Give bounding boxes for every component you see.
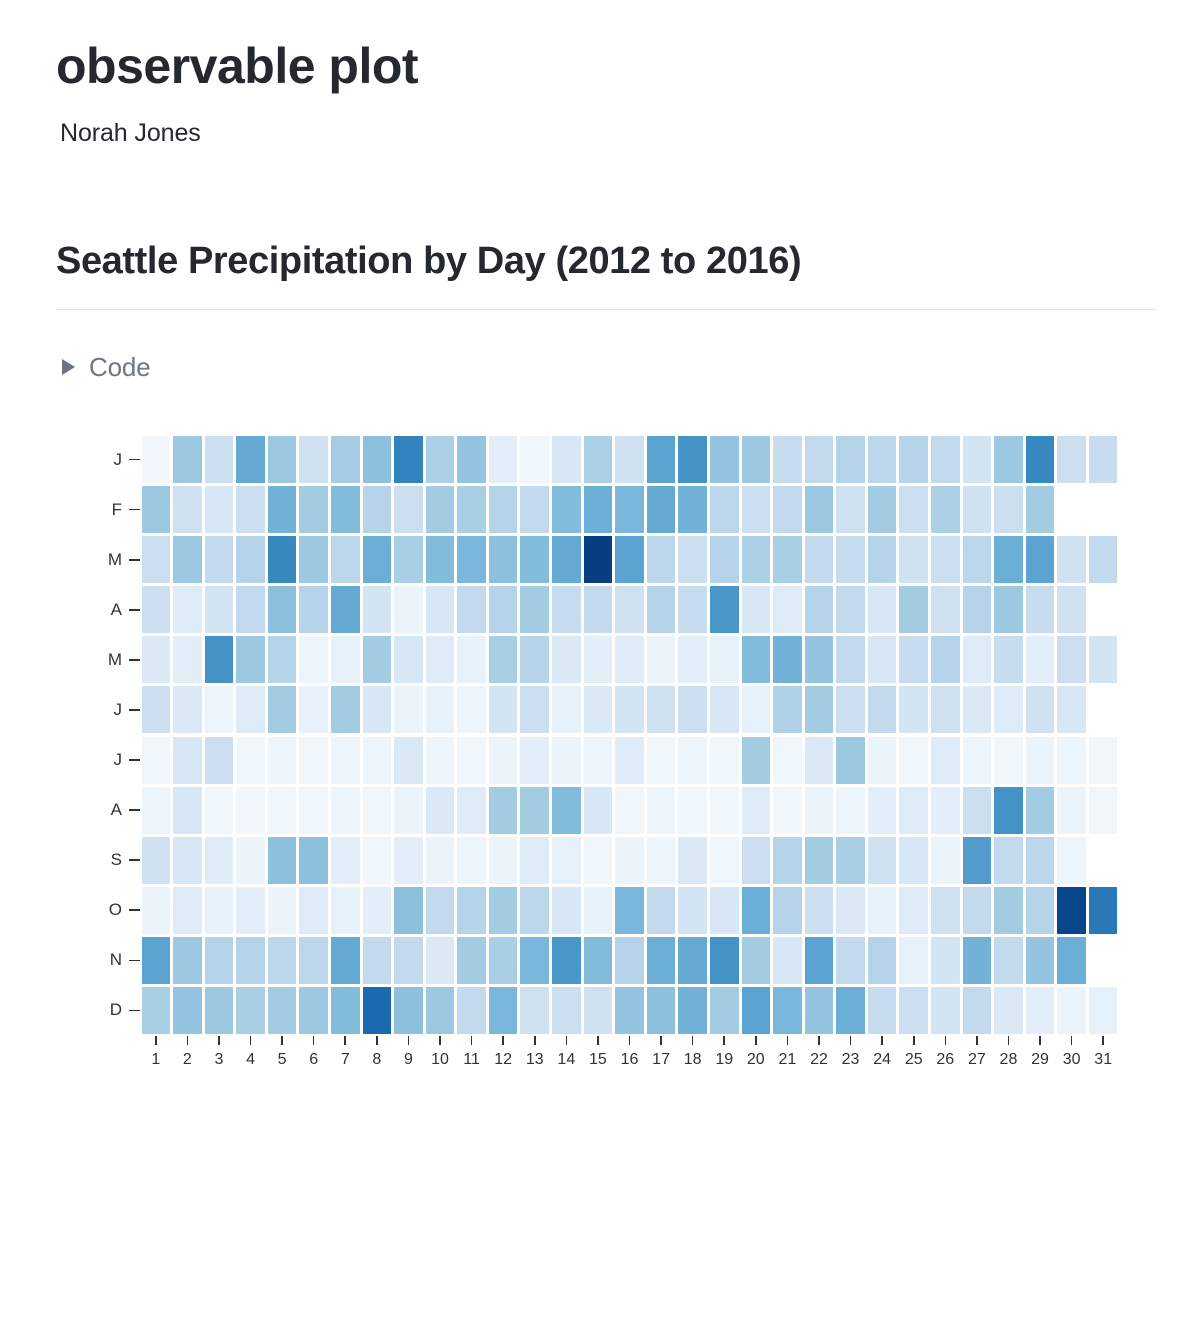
heatmap-cell[interactable]: [963, 937, 992, 984]
heatmap-cell[interactable]: [773, 987, 802, 1034]
heatmap-cell[interactable]: [142, 436, 171, 483]
heatmap-cell[interactable]: [173, 837, 202, 884]
heatmap-cell[interactable]: [773, 586, 802, 633]
heatmap-cell[interactable]: [331, 586, 360, 633]
heatmap-cell[interactable]: [773, 536, 802, 583]
heatmap-cell[interactable]: [805, 586, 834, 633]
heatmap-cell[interactable]: [742, 837, 771, 884]
heatmap-cell[interactable]: [868, 887, 897, 934]
heatmap-cell[interactable]: [489, 737, 518, 784]
heatmap-cell[interactable]: [520, 486, 549, 533]
heatmap-cell[interactable]: [1026, 436, 1055, 483]
heatmap-cell[interactable]: [1057, 737, 1086, 784]
heatmap-cell[interactable]: [1026, 837, 1055, 884]
heatmap-cell[interactable]: [520, 887, 549, 934]
heatmap-cell[interactable]: [394, 536, 423, 583]
heatmap-cell[interactable]: [331, 436, 360, 483]
heatmap-cell[interactable]: [963, 987, 992, 1034]
heatmap-cell[interactable]: [742, 737, 771, 784]
heatmap-cell[interactable]: [1026, 987, 1055, 1034]
heatmap-cell[interactable]: [710, 686, 739, 733]
heatmap-cell[interactable]: [331, 887, 360, 934]
heatmap-cell[interactable]: [899, 737, 928, 784]
heatmap-cell[interactable]: [299, 887, 328, 934]
heatmap-cell[interactable]: [363, 636, 392, 683]
heatmap-cell[interactable]: [236, 536, 265, 583]
heatmap-cell[interactable]: [173, 486, 202, 533]
heatmap-cell[interactable]: [584, 436, 613, 483]
heatmap-cell[interactable]: [268, 486, 297, 533]
heatmap-cell[interactable]: [426, 586, 455, 633]
heatmap-cell[interactable]: [268, 586, 297, 633]
heatmap-cell[interactable]: [710, 737, 739, 784]
heatmap-cell[interactable]: [299, 837, 328, 884]
heatmap-cell[interactable]: [173, 636, 202, 683]
heatmap-cell[interactable]: [299, 937, 328, 984]
heatmap-cell[interactable]: [331, 686, 360, 733]
heatmap-cell[interactable]: [963, 486, 992, 533]
heatmap-cell[interactable]: [363, 987, 392, 1034]
heatmap-cell[interactable]: [742, 787, 771, 834]
heatmap-cell[interactable]: [805, 937, 834, 984]
heatmap-cell[interactable]: [647, 536, 676, 583]
heatmap-cell[interactable]: [299, 486, 328, 533]
heatmap-cell[interactable]: [963, 887, 992, 934]
heatmap-cell[interactable]: [868, 837, 897, 884]
heatmap-cell[interactable]: [489, 536, 518, 583]
heatmap-cell[interactable]: [173, 686, 202, 733]
heatmap-cell[interactable]: [931, 486, 960, 533]
heatmap-cell[interactable]: [173, 987, 202, 1034]
heatmap-cell[interactable]: [457, 787, 486, 834]
heatmap-cell[interactable]: [268, 987, 297, 1034]
heatmap-cell[interactable]: [963, 636, 992, 683]
heatmap-cell[interactable]: [710, 837, 739, 884]
heatmap-cell[interactable]: [836, 436, 865, 483]
heatmap-cell[interactable]: [615, 436, 644, 483]
heatmap-cell[interactable]: [236, 737, 265, 784]
heatmap-cell[interactable]: [615, 636, 644, 683]
heatmap-cell[interactable]: [931, 987, 960, 1034]
heatmap-cell[interactable]: [615, 837, 644, 884]
heatmap-cell[interactable]: [773, 937, 802, 984]
heatmap-cell[interactable]: [552, 486, 581, 533]
heatmap-cell[interactable]: [678, 486, 707, 533]
heatmap-cell[interactable]: [647, 586, 676, 633]
heatmap-cell[interactable]: [489, 436, 518, 483]
heatmap-cell[interactable]: [836, 586, 865, 633]
heatmap-cell[interactable]: [394, 436, 423, 483]
heatmap-cell[interactable]: [331, 837, 360, 884]
heatmap-cell[interactable]: [868, 636, 897, 683]
heatmap-cell[interactable]: [584, 586, 613, 633]
heatmap-cell[interactable]: [331, 937, 360, 984]
heatmap-cell[interactable]: [299, 436, 328, 483]
heatmap-cell[interactable]: [647, 887, 676, 934]
heatmap-cell[interactable]: [142, 937, 171, 984]
heatmap-cell[interactable]: [899, 636, 928, 683]
heatmap-cell[interactable]: [584, 837, 613, 884]
heatmap-cell[interactable]: [710, 436, 739, 483]
heatmap-cell[interactable]: [489, 987, 518, 1034]
heatmap-cell[interactable]: [142, 536, 171, 583]
heatmap-cell[interactable]: [142, 686, 171, 733]
heatmap-cell[interactable]: [836, 486, 865, 533]
heatmap-cell[interactable]: [742, 536, 771, 583]
heatmap-cell[interactable]: [994, 987, 1023, 1034]
heatmap-cell[interactable]: [205, 486, 234, 533]
heatmap-cell[interactable]: [205, 536, 234, 583]
heatmap-cell[interactable]: [963, 737, 992, 784]
heatmap-cell[interactable]: [552, 436, 581, 483]
heatmap-cell[interactable]: [1026, 586, 1055, 633]
heatmap-cell[interactable]: [489, 937, 518, 984]
heatmap-cell[interactable]: [457, 636, 486, 683]
heatmap-cell[interactable]: [426, 787, 455, 834]
heatmap-cell[interactable]: [363, 837, 392, 884]
heatmap-cell[interactable]: [805, 987, 834, 1034]
heatmap-cell[interactable]: [1057, 636, 1086, 683]
heatmap-cell[interactable]: [1057, 837, 1086, 884]
heatmap-cell[interactable]: [426, 887, 455, 934]
heatmap-cell[interactable]: [710, 887, 739, 934]
heatmap-cell[interactable]: [868, 486, 897, 533]
heatmap-cell[interactable]: [994, 486, 1023, 533]
heatmap-cell[interactable]: [520, 586, 549, 633]
heatmap-cell[interactable]: [836, 987, 865, 1034]
heatmap-cell[interactable]: [805, 436, 834, 483]
heatmap-cell[interactable]: [205, 586, 234, 633]
heatmap-cell[interactable]: [142, 586, 171, 633]
heatmap-cell[interactable]: [773, 636, 802, 683]
heatmap-cell[interactable]: [1089, 887, 1118, 934]
heatmap-cell[interactable]: [1026, 686, 1055, 733]
heatmap-cell[interactable]: [520, 636, 549, 683]
heatmap-cell[interactable]: [678, 987, 707, 1034]
heatmap-cell[interactable]: [931, 737, 960, 784]
heatmap-cell[interactable]: [268, 536, 297, 583]
heatmap-cell[interactable]: [236, 636, 265, 683]
heatmap-cell[interactable]: [236, 686, 265, 733]
heatmap-cell[interactable]: [1026, 787, 1055, 834]
heatmap-cell[interactable]: [142, 837, 171, 884]
heatmap-cell[interactable]: [742, 486, 771, 533]
heatmap-cell[interactable]: [520, 837, 549, 884]
heatmap-cell[interactable]: [520, 987, 549, 1034]
heatmap-cell[interactable]: [1057, 686, 1086, 733]
heatmap-cell[interactable]: [363, 937, 392, 984]
heatmap-cell[interactable]: [1057, 436, 1086, 483]
heatmap-cell[interactable]: [299, 636, 328, 683]
heatmap-cell[interactable]: [994, 787, 1023, 834]
heatmap-cell[interactable]: [805, 837, 834, 884]
heatmap-cell[interactable]: [994, 636, 1023, 683]
heatmap-cell[interactable]: [552, 636, 581, 683]
heatmap-cell[interactable]: [931, 586, 960, 633]
heatmap-cell[interactable]: [899, 436, 928, 483]
heatmap-cell[interactable]: [710, 636, 739, 683]
heatmap-cell[interactable]: [647, 686, 676, 733]
heatmap-cell[interactable]: [457, 586, 486, 633]
heatmap-cell[interactable]: [426, 536, 455, 583]
heatmap-cell[interactable]: [268, 837, 297, 884]
heatmap-cell[interactable]: [489, 586, 518, 633]
heatmap-cell[interactable]: [299, 536, 328, 583]
heatmap-cell[interactable]: [142, 737, 171, 784]
heatmap-cell[interactable]: [647, 636, 676, 683]
heatmap-cell[interactable]: [678, 787, 707, 834]
heatmap-cell[interactable]: [615, 536, 644, 583]
heatmap-cell[interactable]: [615, 987, 644, 1034]
heatmap-cell[interactable]: [710, 787, 739, 834]
heatmap-cell[interactable]: [394, 787, 423, 834]
heatmap-cell[interactable]: [457, 486, 486, 533]
heatmap-cell[interactable]: [710, 486, 739, 533]
heatmap-cell[interactable]: [173, 937, 202, 984]
heatmap-cell[interactable]: [994, 837, 1023, 884]
heatmap-cell[interactable]: [994, 586, 1023, 633]
heatmap-cell[interactable]: [994, 937, 1023, 984]
heatmap-cell[interactable]: [1089, 436, 1118, 483]
heatmap-cell[interactable]: [710, 536, 739, 583]
heatmap-cell[interactable]: [268, 787, 297, 834]
heatmap-cell[interactable]: [868, 436, 897, 483]
heatmap-cell[interactable]: [552, 586, 581, 633]
heatmap-cell[interactable]: [868, 686, 897, 733]
heatmap-cell[interactable]: [331, 987, 360, 1034]
heatmap-cell[interactable]: [173, 586, 202, 633]
heatmap-cell[interactable]: [426, 686, 455, 733]
heatmap-cell[interactable]: [584, 737, 613, 784]
heatmap-cell[interactable]: [1026, 737, 1055, 784]
heatmap-cell[interactable]: [142, 887, 171, 934]
heatmap-cell[interactable]: [1057, 987, 1086, 1034]
heatmap-cell[interactable]: [647, 837, 676, 884]
heatmap-cell[interactable]: [552, 837, 581, 884]
heatmap-cell[interactable]: [742, 987, 771, 1034]
heatmap-cell[interactable]: [805, 536, 834, 583]
heatmap-cell[interactable]: [1089, 536, 1118, 583]
heatmap-cell[interactable]: [994, 686, 1023, 733]
heatmap-cell[interactable]: [142, 636, 171, 683]
heatmap-cell[interactable]: [773, 486, 802, 533]
heatmap-cell[interactable]: [394, 737, 423, 784]
heatmap-cell[interactable]: [173, 737, 202, 784]
heatmap-cell[interactable]: [836, 887, 865, 934]
heatmap-cell[interactable]: [899, 586, 928, 633]
heatmap-cell[interactable]: [963, 586, 992, 633]
heatmap-cell[interactable]: [1057, 887, 1086, 934]
heatmap-cell[interactable]: [678, 536, 707, 583]
heatmap-cell[interactable]: [457, 737, 486, 784]
heatmap-cell[interactable]: [647, 787, 676, 834]
heatmap-cell[interactable]: [552, 787, 581, 834]
heatmap-cell[interactable]: [426, 987, 455, 1034]
heatmap-cell[interactable]: [394, 837, 423, 884]
heatmap-cell[interactable]: [647, 937, 676, 984]
heatmap-cell[interactable]: [805, 686, 834, 733]
heatmap-cell[interactable]: [426, 486, 455, 533]
heatmap-cell[interactable]: [1089, 737, 1118, 784]
heatmap-cell[interactable]: [205, 436, 234, 483]
heatmap-cell[interactable]: [363, 686, 392, 733]
heatmap-cell[interactable]: [584, 686, 613, 733]
heatmap-cell[interactable]: [268, 636, 297, 683]
heatmap-cell[interactable]: [457, 837, 486, 884]
heatmap-cell[interactable]: [836, 686, 865, 733]
heatmap-cell[interactable]: [836, 737, 865, 784]
heatmap-cell[interactable]: [1057, 787, 1086, 834]
heatmap-cell[interactable]: [963, 536, 992, 583]
heatmap-cell[interactable]: [173, 436, 202, 483]
heatmap-cell[interactable]: [426, 937, 455, 984]
heatmap-cell[interactable]: [931, 887, 960, 934]
heatmap-cell[interactable]: [457, 686, 486, 733]
heatmap-cell[interactable]: [678, 686, 707, 733]
heatmap-cell[interactable]: [868, 937, 897, 984]
heatmap-cell[interactable]: [520, 787, 549, 834]
heatmap-cell[interactable]: [489, 787, 518, 834]
heatmap-cell[interactable]: [836, 837, 865, 884]
heatmap-cell[interactable]: [647, 486, 676, 533]
heatmap-cell[interactable]: [678, 436, 707, 483]
heatmap-cell[interactable]: [426, 837, 455, 884]
heatmap-cell[interactable]: [899, 837, 928, 884]
heatmap-cell[interactable]: [142, 787, 171, 834]
heatmap-cell[interactable]: [615, 887, 644, 934]
heatmap-cell[interactable]: [678, 937, 707, 984]
heatmap-cell[interactable]: [584, 887, 613, 934]
heatmap-cell[interactable]: [931, 536, 960, 583]
heatmap-cell[interactable]: [868, 536, 897, 583]
heatmap-cell[interactable]: [1026, 887, 1055, 934]
heatmap-cell[interactable]: [394, 887, 423, 934]
heatmap-cell[interactable]: [173, 536, 202, 583]
heatmap-cell[interactable]: [268, 937, 297, 984]
heatmap-cell[interactable]: [868, 737, 897, 784]
heatmap-cell[interactable]: [205, 937, 234, 984]
heatmap-cell[interactable]: [236, 887, 265, 934]
heatmap-cell[interactable]: [394, 486, 423, 533]
heatmap-cell[interactable]: [615, 737, 644, 784]
heatmap-cell[interactable]: [678, 586, 707, 633]
heatmap-cell[interactable]: [394, 636, 423, 683]
heatmap-cell[interactable]: [615, 686, 644, 733]
heatmap-cell[interactable]: [236, 837, 265, 884]
heatmap-cell[interactable]: [678, 737, 707, 784]
heatmap-cell[interactable]: [1026, 536, 1055, 583]
heatmap-cell[interactable]: [931, 837, 960, 884]
heatmap-cell[interactable]: [1026, 486, 1055, 533]
heatmap-cell[interactable]: [615, 486, 644, 533]
heatmap-cell[interactable]: [205, 737, 234, 784]
heatmap-cell[interactable]: [994, 436, 1023, 483]
heatmap-cell[interactable]: [773, 837, 802, 884]
heatmap-cell[interactable]: [836, 536, 865, 583]
heatmap-cell[interactable]: [1089, 787, 1118, 834]
heatmap-cell[interactable]: [363, 737, 392, 784]
heatmap-cell[interactable]: [742, 887, 771, 934]
heatmap-cell[interactable]: [899, 486, 928, 533]
heatmap-cell[interactable]: [1026, 937, 1055, 984]
heatmap-cell[interactable]: [773, 787, 802, 834]
heatmap-cell[interactable]: [836, 787, 865, 834]
heatmap-cell[interactable]: [142, 486, 171, 533]
heatmap-cell[interactable]: [489, 686, 518, 733]
heatmap-cell[interactable]: [299, 586, 328, 633]
heatmap-cell[interactable]: [899, 787, 928, 834]
heatmap-cell[interactable]: [268, 686, 297, 733]
heatmap-cell[interactable]: [1089, 987, 1118, 1034]
heatmap-cell[interactable]: [805, 486, 834, 533]
heatmap-cell[interactable]: [710, 937, 739, 984]
heatmap-cell[interactable]: [205, 686, 234, 733]
heatmap-cell[interactable]: [268, 887, 297, 934]
heatmap-cell[interactable]: [489, 837, 518, 884]
heatmap-cell[interactable]: [868, 787, 897, 834]
heatmap-cell[interactable]: [457, 987, 486, 1034]
heatmap-cell[interactable]: [773, 436, 802, 483]
heatmap-cell[interactable]: [489, 887, 518, 934]
heatmap-cell[interactable]: [331, 486, 360, 533]
heatmap-cell[interactable]: [805, 636, 834, 683]
heatmap-cell[interactable]: [236, 987, 265, 1034]
heatmap-cell[interactable]: [363, 486, 392, 533]
heatmap-cell[interactable]: [457, 536, 486, 583]
heatmap-cell[interactable]: [552, 987, 581, 1034]
heatmap-cell[interactable]: [931, 937, 960, 984]
heatmap-cell[interactable]: [205, 987, 234, 1034]
heatmap-cell[interactable]: [173, 787, 202, 834]
heatmap-cell[interactable]: [963, 787, 992, 834]
heatmap-cell[interactable]: [268, 737, 297, 784]
heatmap-cell[interactable]: [205, 787, 234, 834]
heatmap-cell[interactable]: [963, 686, 992, 733]
heatmap-cell[interactable]: [584, 987, 613, 1034]
heatmap-cell[interactable]: [173, 887, 202, 934]
heatmap-cell[interactable]: [363, 436, 392, 483]
heatmap-cell[interactable]: [931, 636, 960, 683]
heatmap-cell[interactable]: [742, 937, 771, 984]
heatmap-cell[interactable]: [899, 987, 928, 1034]
heatmap-cell[interactable]: [299, 686, 328, 733]
heatmap-cell[interactable]: [394, 937, 423, 984]
heatmap-cell[interactable]: [552, 536, 581, 583]
heatmap-cell[interactable]: [205, 837, 234, 884]
heatmap-cell[interactable]: [552, 737, 581, 784]
heatmap-cell[interactable]: [994, 737, 1023, 784]
heatmap-cell[interactable]: [836, 636, 865, 683]
heatmap-cell[interactable]: [394, 987, 423, 1034]
heatmap-cell[interactable]: [1057, 536, 1086, 583]
heatmap-cell[interactable]: [836, 937, 865, 984]
heatmap-cell[interactable]: [647, 436, 676, 483]
heatmap-cell[interactable]: [331, 536, 360, 583]
heatmap-cell[interactable]: [963, 837, 992, 884]
heatmap-cell[interactable]: [742, 436, 771, 483]
heatmap-cell[interactable]: [457, 937, 486, 984]
heatmap-cell[interactable]: [268, 436, 297, 483]
heatmap-cell[interactable]: [520, 686, 549, 733]
heatmap-cell[interactable]: [678, 887, 707, 934]
heatmap-cell[interactable]: [1057, 586, 1086, 633]
heatmap-cell[interactable]: [931, 686, 960, 733]
heatmap-cell[interactable]: [615, 937, 644, 984]
heatmap-cell[interactable]: [331, 636, 360, 683]
heatmap-cell[interactable]: [205, 887, 234, 934]
heatmap-cell[interactable]: [552, 686, 581, 733]
heatmap-cell[interactable]: [520, 737, 549, 784]
